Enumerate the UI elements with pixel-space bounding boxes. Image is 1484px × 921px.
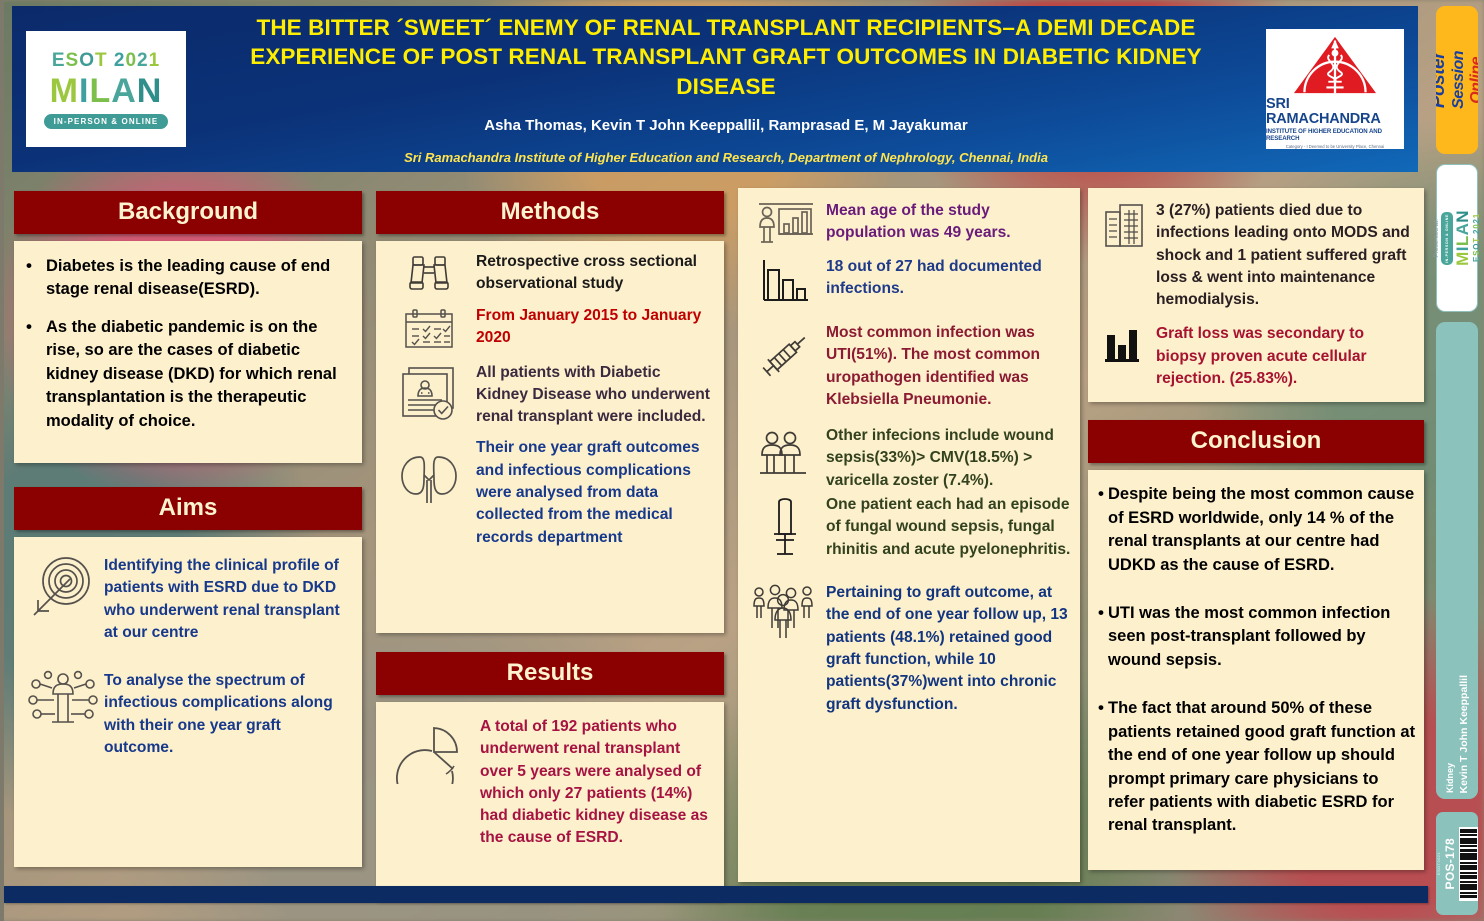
- panel-methods: Retrospective cross sectional observatio…: [376, 241, 724, 633]
- methods-item-4-text: Their one year graft outcomes and infect…: [476, 437, 716, 548]
- patient-record-check-icon: [399, 366, 459, 422]
- pie-chart-icon: [396, 718, 468, 784]
- results-item-7: Pertaining to graft outcome, at the end …: [744, 582, 1072, 716]
- presenter-chart-icon: [753, 200, 817, 246]
- results-item-5: Other infecions include wound sepsis(33%…: [744, 425, 1072, 492]
- poster-session-online-badge[interactable]: Poster Session Online: [1436, 6, 1478, 154]
- results-item-6: One patient each had an episode of funga…: [744, 494, 1072, 562]
- online-word: Online: [1468, 57, 1478, 104]
- syringe-diagonal-icon: [756, 328, 814, 384]
- header-center: THE BITTER ´SWEET´ ENEMY OF RENAL TRANSP…: [186, 13, 1266, 165]
- list-item: Despite being the most common cause of E…: [1094, 483, 1416, 577]
- bar-chart-solid-icon: [1103, 326, 1147, 366]
- list-item: As the diabetic pandemic is on the rise,…: [22, 316, 350, 433]
- section-heading-aims: Aims: [14, 487, 362, 530]
- target-arrow-icon: [30, 555, 96, 619]
- poster-header: ESOT 2021 MILAN IN-PERSON & ONLINE THE B…: [12, 6, 1418, 172]
- page-title-line-2: EXPERIENCE OF POST RENAL TRANSPLANT GRAF…: [200, 42, 1252, 101]
- esot-logo-badge: IN-PERSON & ONLINE: [44, 114, 169, 129]
- sri-ramachandra-name: SRI RAMACHANDRA: [1266, 97, 1404, 126]
- barcode-number: ESOT2021: [1436, 852, 1441, 875]
- methods-item-1-text: Retrospective cross sectional observatio…: [476, 251, 716, 296]
- patient-network-icon: [28, 670, 98, 728]
- presented-at-badge: IN-PERSON & ONLINE: [1441, 212, 1453, 265]
- caduceus-triangle-icon: [1289, 34, 1381, 97]
- results-item-3-text: 18 out of 27 had documented infections.: [826, 256, 1072, 301]
- presented-at-city: MILAN: [1454, 210, 1471, 266]
- section-heading-conclusion: Conclusion: [1088, 420, 1424, 463]
- poster-root: ESOT 2021 MILAN IN-PERSON & ONLINE THE B…: [0, 0, 1484, 921]
- results-item-1: A total of 192 patients who underwent re…: [384, 716, 714, 850]
- methods-item-3: All patients with Diabetic Kidney Diseas…: [382, 362, 716, 429]
- people-group-icon: [754, 429, 816, 481]
- panel-conclusion: Despite being the most common cause of E…: [1088, 470, 1424, 870]
- kidneys-icon: [396, 451, 462, 505]
- poster-word: Poster: [1436, 52, 1450, 108]
- results-item-4: Most common infection was UTI(51%). The …: [744, 322, 1072, 411]
- presented-at-card: Presented at: IN-PERSON & ONLINE MILAN E…: [1436, 164, 1478, 312]
- page-title: THE BITTER ´SWEET´ ENEMY OF RENAL TRANSP…: [200, 13, 1252, 101]
- results-item-6-text: One patient each had an episode of funga…: [826, 494, 1072, 561]
- results-item-2: Mean age of the study population was 49 …: [744, 200, 1072, 246]
- column-results-conclusion: 3 (27%) patients died due to infections …: [1088, 188, 1424, 870]
- presented-at-year: ESOT 2021: [1472, 213, 1481, 262]
- section-heading-methods: Methods: [376, 191, 724, 234]
- panel-background: Diabetes is the leading cause of end sta…: [14, 241, 362, 463]
- affiliation: Sri Ramachandra Institute of Higher Educ…: [200, 150, 1252, 165]
- background-bullet-list: Diabetes is the leading cause of end sta…: [22, 255, 350, 433]
- aims-item-2: To analyse the spectrum of infectious co…: [22, 670, 352, 759]
- panel-results-deaths: 3 (27%) patients died due to infections …: [1088, 188, 1424, 402]
- list-item: Diabetes is the leading cause of end sta…: [22, 255, 350, 302]
- aims-item-2-text: To analyse the spectrum of infectious co…: [104, 670, 352, 759]
- results-item-3: 18 out of 27 had documented infections.: [744, 256, 1072, 306]
- results-item-1-text: A total of 192 patients who underwent re…: [480, 716, 714, 850]
- methods-item-3-text: All patients with Diabetic Kidney Diseas…: [476, 362, 716, 429]
- methods-item-2: From January 2015 to January 2020: [382, 305, 716, 353]
- results-item-9-text: Graft loss was secondary to biopsy prove…: [1156, 323, 1414, 390]
- section-heading-background: Background: [14, 191, 362, 234]
- list-item: UTI was the most common infection seen p…: [1094, 602, 1416, 672]
- poster-code-panel: ESOT2021 POS-178: [1436, 812, 1478, 915]
- results-item-2-text: Mean age of the study population was 49 …: [826, 200, 1072, 245]
- topic-presenter-panel: Kidney Kevin T John Keeppallil: [1436, 322, 1478, 799]
- column-methods-results: Methods: [376, 191, 724, 900]
- sri-ramachandra-subtitle-2: Category - I Deemed to be University Pla…: [1286, 144, 1384, 149]
- results-item-8: 3 (27%) patients died due to infections …: [1094, 200, 1414, 311]
- esot-logo-year: ESOT 2021: [52, 50, 160, 72]
- binoculars-icon: [407, 253, 451, 293]
- topic-label: Kidney: [1445, 763, 1455, 793]
- poster-code-label: POS-178: [1443, 838, 1457, 889]
- page-title-line-1: THE BITTER ´SWEET´ ENEMY OF RENAL TRANSP…: [200, 13, 1252, 42]
- results-item-9: Graft loss was secondary to biopsy prove…: [1094, 323, 1414, 390]
- right-sidebar: Poster Session Online Presented at: IN-P…: [1430, 0, 1484, 921]
- methods-item-2-text: From January 2015 to January 2020: [476, 305, 716, 350]
- methods-item-4: Their one year graft outcomes and infect…: [382, 437, 716, 548]
- bar-chart-icon: [758, 258, 812, 306]
- section-heading-results: Results: [376, 652, 724, 695]
- results-item-7-text: Pertaining to graft outcome, at the end …: [826, 582, 1072, 716]
- column-background-aims: Background Diabetes is the leading cause…: [14, 191, 362, 867]
- panel-aims: Identifying the clinical profile of pati…: [14, 537, 362, 867]
- esot-logo-city: MILAN: [50, 74, 163, 108]
- aims-item-1-text: Identifying the clinical profile of pati…: [104, 555, 352, 644]
- left-edge-strip: [0, 0, 4, 921]
- conclusion-bullet-list: Despite being the most common cause of E…: [1094, 483, 1416, 837]
- panel-results-continued: Mean age of the study population was 49 …: [738, 188, 1080, 882]
- list-item: The fact that around 50% of these patien…: [1094, 697, 1416, 838]
- syringe-vertical-icon: [765, 496, 805, 562]
- calendar-check-icon: [402, 307, 456, 353]
- esot-2021-milan-logo: ESOT 2021 MILAN IN-PERSON & ONLINE: [26, 31, 186, 147]
- barcode-icon: [1459, 827, 1478, 901]
- results-item-8-text: 3 (27%) patients died due to infections …: [1156, 200, 1414, 311]
- panel-results: A total of 192 patients who underwent re…: [376, 702, 724, 900]
- aims-item-1: Identifying the clinical profile of pati…: [22, 555, 352, 644]
- session-word: Session: [1450, 51, 1468, 109]
- hospital-building-icon: [1102, 202, 1148, 252]
- methods-item-1: Retrospective cross sectional observatio…: [382, 251, 716, 296]
- bottom-accent-bar: [4, 886, 1428, 903]
- people-crowd-icon: [750, 584, 820, 644]
- sri-ramachandra-subtitle: INSTITUTE OF HIGHER EDUCATION AND RESEAR…: [1266, 128, 1404, 142]
- sri-ramachandra-logo: SRI RAMACHANDRA INSTITUTE OF HIGHER EDUC…: [1266, 29, 1404, 149]
- presenter-label: Kevin T John Keeppallil: [1458, 675, 1470, 793]
- results-item-4-text: Most common infection was UTI(51%). The …: [826, 322, 1072, 411]
- results-item-5-text: Other infecions include wound sepsis(33%…: [826, 425, 1072, 492]
- presented-at-label: Presented at:: [1433, 219, 1440, 258]
- author-list: Asha Thomas, Kevin T John Keeppallil, Ra…: [200, 117, 1252, 134]
